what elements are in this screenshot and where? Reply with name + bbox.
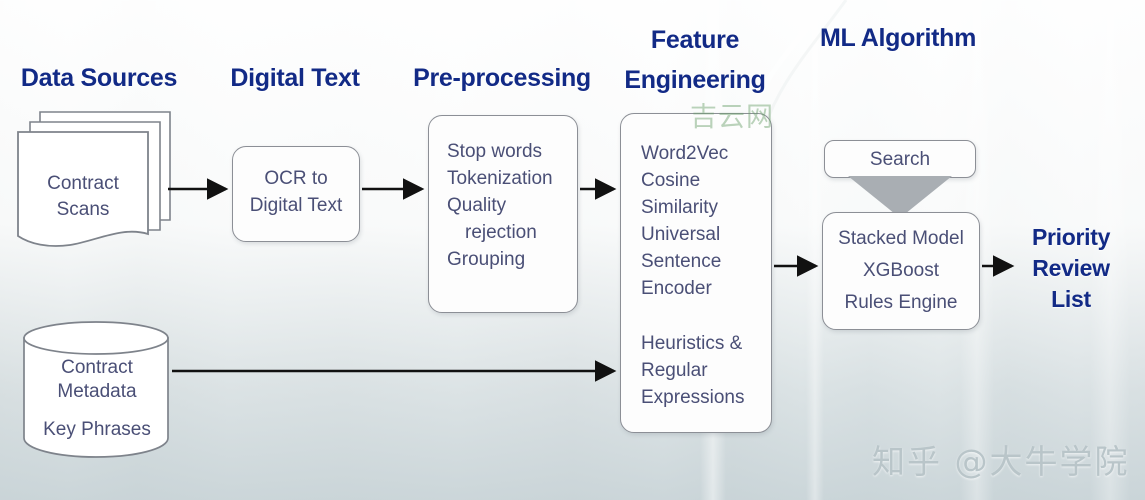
fe-item-cosine: Cosine — [641, 167, 771, 194]
column-header-feature-engineering: Feature Engineering — [600, 20, 790, 100]
column-header-digital-text: Digital Text — [205, 58, 385, 98]
contract-scans-label-line1: Contract — [18, 170, 148, 197]
fe-item-word2vec: Word2Vec — [641, 140, 771, 167]
fe-item-regular: Regular — [641, 357, 771, 384]
contract-metadata-label-line2: Metadata — [24, 378, 170, 405]
fe-item-heuristics: Heuristics & — [641, 330, 771, 357]
feature-engineering-node[interactable]: Word2Vec Cosine Similarity Universal Sen… — [620, 113, 772, 433]
fe-item-similarity: Similarity — [641, 194, 771, 221]
diagram-canvas: Data Sources Digital Text Pre-processing… — [0, 0, 1145, 500]
column-header-data-sources: Data Sources — [6, 58, 192, 98]
preprocessing-item-tokenization: Tokenization — [447, 165, 577, 192]
search-label: Search — [825, 141, 975, 179]
watermark-zhihu: 知乎 @大牛学院 — [872, 435, 1130, 483]
pre-processing-node[interactable]: Stop words Tokenization Quality rejectio… — [428, 115, 578, 313]
model-label-line1: Stacked Model — [837, 225, 965, 252]
contract-metadata-label-line1: Contract — [24, 354, 170, 381]
fe-group-spacer — [641, 302, 771, 330]
stacked-model-node[interactable]: Stacked Model XGBoost Rules Engine — [822, 212, 980, 330]
ocr-label-line2: Digital Text — [247, 192, 345, 219]
ocr-label-line1: OCR to — [247, 165, 345, 192]
preprocessing-item-quality-rejection: rejection — [447, 219, 577, 246]
column-header-pre-processing: Pre-processing — [402, 58, 602, 98]
preprocessing-item-grouping: Grouping — [447, 246, 577, 273]
preprocessing-item-stop-words: Stop words — [447, 138, 577, 165]
column-header-ml-algorithm: ML Algorithm — [800, 18, 996, 58]
fe-item-sentence: Sentence — [641, 248, 771, 275]
priority-review-list-output: Priority Review List — [1006, 222, 1136, 315]
contract-metadata-node[interactable]: Contract Metadata Key Phrases — [20, 318, 175, 458]
contract-scans-node[interactable]: Contract Scans — [12, 108, 187, 248]
ocr-node[interactable]: OCR to Digital Text — [232, 146, 360, 242]
contract-metadata-label-line3: Key Phrases — [24, 416, 170, 443]
preprocessing-item-quality: Quality — [447, 192, 577, 219]
model-label-line2: XGBoost — [837, 257, 965, 284]
fe-item-expressions: Expressions — [641, 384, 771, 411]
watermark-center-green: 吉云网 — [690, 95, 774, 134]
fe-item-universal: Universal — [641, 221, 771, 248]
search-node[interactable]: Search — [824, 140, 976, 178]
contract-scans-label-line2: Scans — [18, 196, 148, 223]
fe-item-encoder: Encoder — [641, 275, 771, 302]
model-label-line3: Rules Engine — [837, 289, 965, 316]
